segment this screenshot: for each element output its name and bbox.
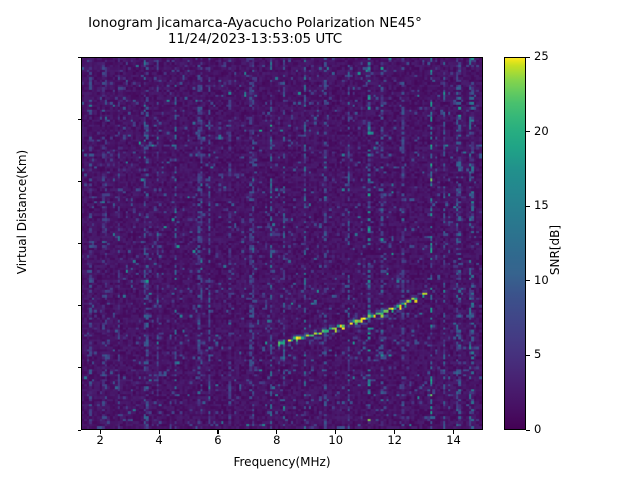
x-tick-label: 4 — [139, 435, 179, 447]
x-tick-label: 14 — [434, 435, 474, 447]
colorbar-tick-mark — [526, 280, 530, 281]
y-tick-mark — [78, 181, 82, 182]
chart-title: Ionogram Jicamarca-Ayacucho Polarization… — [0, 16, 510, 47]
colorbar — [504, 57, 526, 430]
ionogram-plot-area — [81, 57, 483, 430]
y-tick-mark — [78, 119, 82, 120]
x-tick-label: 6 — [198, 435, 238, 447]
x-tick-label: 2 — [80, 435, 120, 447]
y-tick-mark — [78, 57, 82, 58]
y-tick-mark — [78, 430, 82, 431]
ionogram-heatmap — [82, 58, 482, 429]
colorbar-tick-mark — [526, 131, 530, 132]
y-tick-mark — [78, 243, 82, 244]
y-tick-mark — [78, 367, 82, 368]
y-axis-label: Virtual Distance(Km) — [15, 42, 29, 382]
colorbar-tick-mark — [526, 430, 530, 431]
x-tick-label: 10 — [316, 435, 356, 447]
x-tick-label: 8 — [257, 435, 297, 447]
y-tick-mark — [78, 305, 82, 306]
colorbar-tick-mark — [526, 355, 530, 356]
colorbar-tick-label: 25 — [534, 51, 574, 63]
x-tick-label: 12 — [375, 435, 415, 447]
x-axis-label: Frequency(MHz) — [81, 455, 483, 469]
colorbar-tick-label: 0 — [534, 424, 574, 436]
colorbar-tick-mark — [526, 206, 530, 207]
colorbar-tick-mark — [526, 57, 530, 58]
colorbar-label: SNR[dB] — [548, 120, 562, 380]
ionogram-figure: Ionogram Jicamarca-Ayacucho Polarization… — [0, 0, 640, 480]
